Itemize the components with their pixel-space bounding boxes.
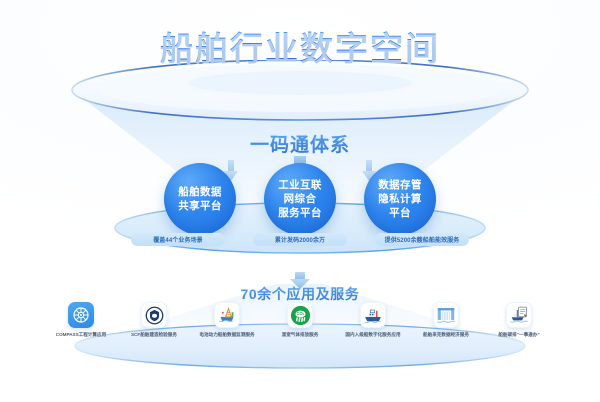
port-gate-icon <box>433 302 459 328</box>
app-item-1[interactable]: COMPASS工程计算应用 <box>52 302 110 339</box>
metric-row: 覆盖44个业务场景 累计发码2000余万 提供5200余艘船舶能效服务 <box>0 233 600 246</box>
platform-circle-3-line1: 数据存管 <box>378 178 422 192</box>
platform-circle-3-line2: 隐私计算 <box>378 192 422 206</box>
platform-circle-2-line2: 网综合 <box>278 192 322 206</box>
platform-circle-2[interactable]: 工业互联 网综合 服务平台 <box>264 163 336 235</box>
funnel-bowl-core <box>188 71 412 95</box>
certificate-ship-icon <box>506 302 532 328</box>
platform-circle-2-line3: 服务平台 <box>278 206 322 220</box>
page-title: 船舶行业数字空间 <box>160 22 440 70</box>
platform-circle-1-line2: 共享平台 <box>178 199 222 213</box>
shield-badge-icon <box>141 302 167 328</box>
app-label-6: 船舶来克数据经济服务 <box>417 332 475 339</box>
app-row: COMPASS工程计算应用 SCF船舶建造检验服务 <box>0 302 600 339</box>
ship-helm-icon <box>68 302 94 328</box>
svg-text:CO₂: CO₂ <box>296 311 304 316</box>
section-heading: 一码通体系 <box>0 130 600 157</box>
metric-pill-2: 累计发码2000余万 <box>253 233 347 246</box>
infographic-canvas: 船舶行业数字空间 一码通体系 船舶数据 共享平台 <box>0 0 600 402</box>
platform-circle-1[interactable]: 船舶数据 共享平台 <box>164 163 236 235</box>
platform-circle-3[interactable]: 数据存管 隐私计算 平台 <box>364 163 436 235</box>
app-item-6[interactable]: 船舶来克数据经济服务 <box>417 302 475 339</box>
app-item-3[interactable]: 电池动力船舶数据监测服务 <box>198 302 256 339</box>
vessel-icon <box>360 302 386 328</box>
app-item-4[interactable]: CO₂ 温室气体排放服务 <box>271 302 329 339</box>
metric-pill-1: 覆盖44个业务场景 <box>131 233 225 246</box>
oil-rig-ship-icon <box>214 302 240 328</box>
platform-circle-3-line3: 平台 <box>378 206 422 220</box>
app-item-7[interactable]: 船舶碳排“一事通办” <box>490 302 548 339</box>
co2-cloud-icon: CO₂ <box>287 302 313 328</box>
app-label-2: SCF船舶建造检验服务 <box>125 332 183 339</box>
page-title-wrap: 船舶行业数字空间 <box>0 22 600 70</box>
app-item-5[interactable]: 国内入级船数字化服务应用 <box>344 302 402 339</box>
app-item-2[interactable]: SCF船舶建造检验服务 <box>125 302 183 339</box>
platform-circle-1-line1: 船舶数据 <box>178 185 222 199</box>
app-label-4: 温室气体排放服务 <box>271 332 329 339</box>
app-label-3: 电池动力船舶数据监测服务 <box>198 332 256 339</box>
app-label-5: 国内入级船数字化服务应用 <box>344 332 402 339</box>
platform-circle-row: 船舶数据 共享平台 工业互联 网综合 服务平台 数据存管 隐私计算 平台 <box>0 163 600 235</box>
app-label-7: 船舶碳排“一事通办” <box>490 332 548 339</box>
platform-circle-2-line1: 工业互联 <box>278 178 322 192</box>
apps-heading: 70余个应用及服务 <box>0 284 600 304</box>
metric-pill-3: 提供5200余艘船舶能效服务 <box>375 233 469 246</box>
app-label-1: COMPASS工程计算应用 <box>52 332 110 339</box>
